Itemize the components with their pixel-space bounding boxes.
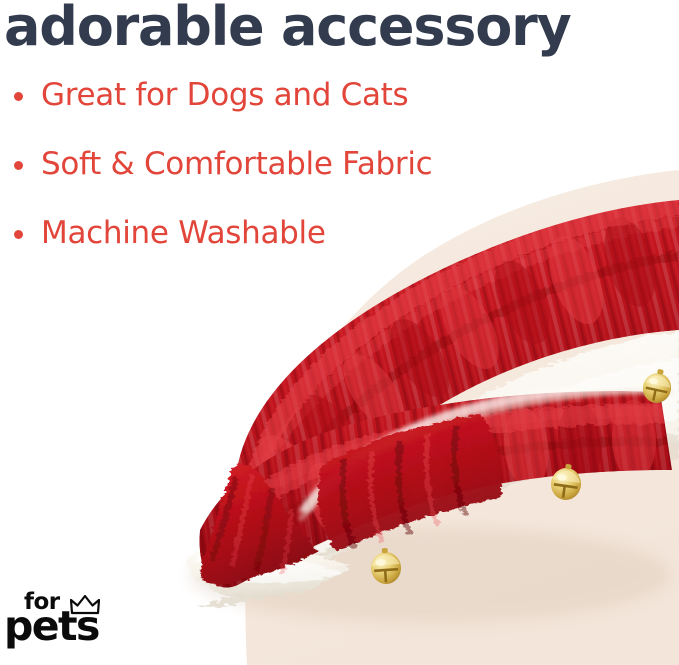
product-shadow [190, 527, 670, 623]
feature-label: Great for Dogs and Cats [41, 79, 408, 112]
collar-inner-opening [298, 381, 672, 520]
fur-trim-left [186, 542, 352, 598]
feature-list-item: Great for Dogs and Cats [0, 79, 500, 148]
feature-list: Great for Dogs and Cats Soft & Comfortab… [0, 79, 500, 286]
jingle-bell [370, 367, 675, 586]
velvet-center-panel [318, 414, 502, 552]
promo-image-canvas: adorable accessory Great for Dogs and Ca… [0, 0, 679, 665]
velvet-lower-arc [180, 370, 679, 620]
bullet-dot-icon [14, 161, 23, 170]
velvet-left-tip [200, 464, 318, 585]
page-title: adorable accessory [4, 0, 571, 58]
brand-logo: for pets [4, 591, 124, 649]
feature-list-item: Soft & Comfortable Fabric [0, 148, 500, 217]
bullet-dot-icon [14, 230, 23, 239]
fur-trim [196, 330, 679, 607]
bullet-dot-icon [14, 92, 23, 101]
brand-logo-line2: pets [4, 606, 99, 647]
feature-label: Machine Washable [41, 217, 326, 250]
feature-list-item: Machine Washable [0, 217, 500, 286]
feature-label: Soft & Comfortable Fabric [41, 148, 432, 181]
